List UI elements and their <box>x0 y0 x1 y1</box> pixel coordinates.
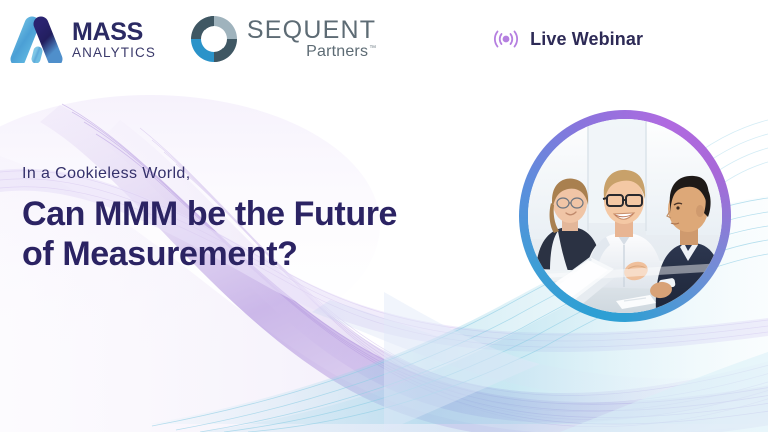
hero-title: Can MMM be the Future of Measurement? <box>22 194 397 274</box>
live-webinar-badge: Live Webinar <box>492 27 643 51</box>
mass-subtitle: ANALYTICS <box>72 46 156 60</box>
hero-title-line-2: of Measurement? <box>22 234 397 274</box>
live-broadcast-signal-icon <box>492 27 520 51</box>
mass-title: MASS <box>72 20 156 45</box>
sequent-subtitle: Partners <box>306 44 368 60</box>
sequent-circle-swirl-mark <box>188 13 240 65</box>
mass-analytics-logo[interactable]: MASS ANALYTICS <box>8 15 156 63</box>
sequent-wordmark: SEQUENT Partners ™ <box>247 18 376 60</box>
hero-eyebrow: In a Cookieless World, <box>22 165 397 183</box>
three-business-people-meeting-photo <box>528 119 722 313</box>
webinar-banner: MASS ANALYTICS <box>0 0 768 432</box>
trademark-symbol: ™ <box>369 45 376 52</box>
photo-clip <box>528 119 722 313</box>
hero-headline-block: In a Cookieless World, Can MMM be the Fu… <box>22 165 397 274</box>
header-bar: MASS ANALYTICS <box>0 0 768 78</box>
sequent-title: SEQUENT <box>247 18 376 43</box>
live-webinar-label: Live Webinar <box>530 29 643 50</box>
sequent-partners-logo[interactable]: SEQUENT Partners ™ <box>188 13 376 65</box>
hero-title-line-1: Can MMM be the Future <box>22 195 397 233</box>
mass-analytics-wordmark: MASS ANALYTICS <box>72 18 156 60</box>
mass-analytics-m-mark <box>8 15 66 63</box>
hero-photo <box>519 110 731 322</box>
